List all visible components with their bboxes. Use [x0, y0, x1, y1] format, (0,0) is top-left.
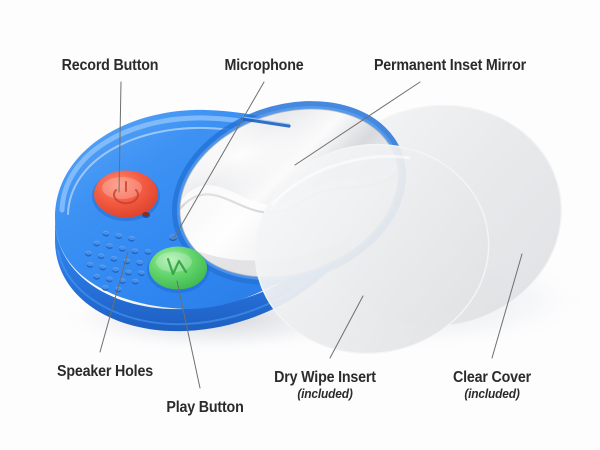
figure-canvas: Record Button Microphone Permanent Inset… [0, 0, 600, 450]
label-microphone: Microphone [225, 58, 304, 74]
label-speaker-holes-text: Speaker Holes [57, 363, 153, 380]
label-clear-cover-note: (included) [453, 387, 531, 401]
label-play-button-text: Play Button [166, 399, 243, 416]
label-speaker-holes: Speaker Holes [57, 364, 153, 380]
label-permanent-inset-mirror-text: Permanent Inset Mirror [374, 57, 526, 74]
label-record-button: Record Button [62, 58, 159, 74]
label-dry-wipe-insert-text: Dry Wipe Insert [274, 369, 376, 386]
label-clear-cover: Clear Cover (included) [453, 370, 531, 401]
indicator-led-icon [142, 212, 150, 218]
label-permanent-inset-mirror: Permanent Inset Mirror [374, 58, 526, 74]
label-dry-wipe-insert: Dry Wipe Insert (included) [274, 370, 376, 401]
label-clear-cover-text: Clear Cover [453, 369, 531, 386]
label-record-button-text: Record Button [62, 57, 159, 74]
label-dry-wipe-insert-note: (included) [274, 387, 376, 401]
label-play-button: Play Button [166, 400, 243, 416]
label-microphone-text: Microphone [225, 57, 304, 74]
